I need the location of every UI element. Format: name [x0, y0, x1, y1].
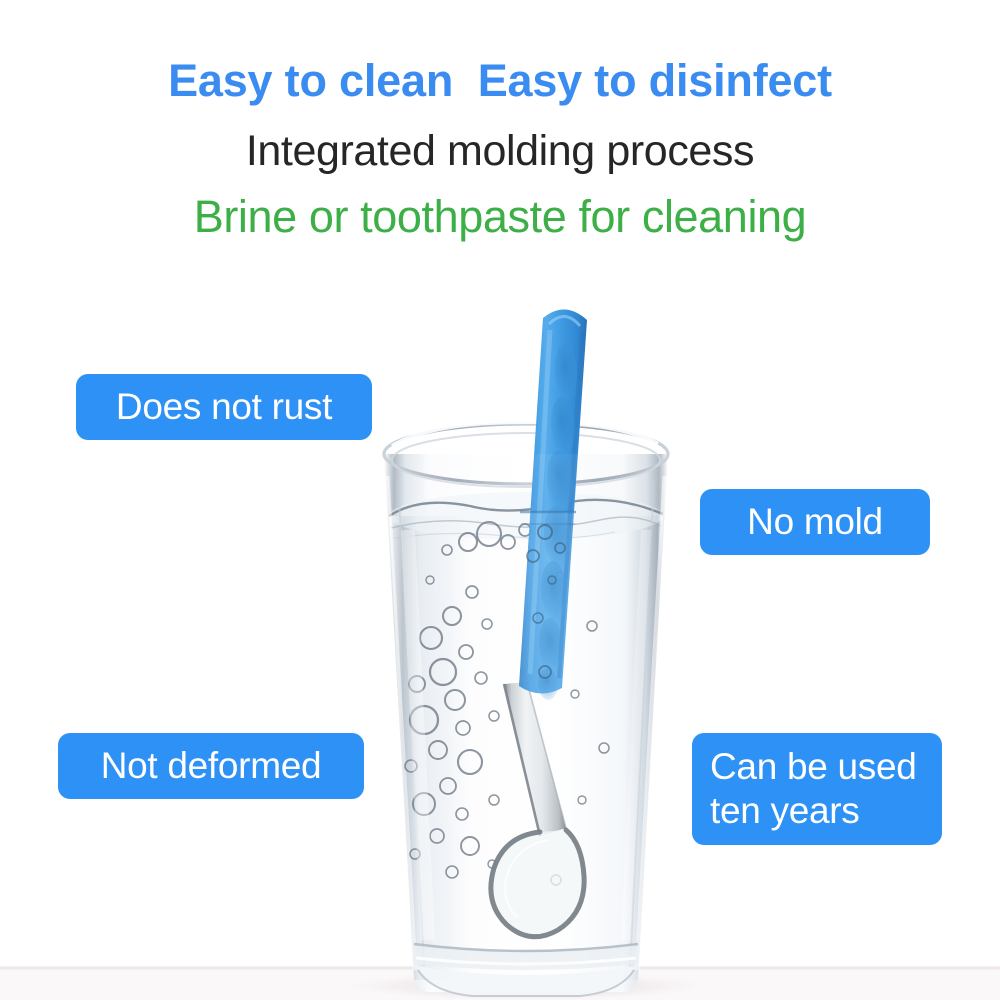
feature-badge-no-mold[interactable]: No mold: [700, 489, 930, 555]
headline-line-3: Brine or toothpaste for cleaning: [0, 194, 1000, 239]
headline-line-2: Integrated molding process: [0, 130, 1000, 173]
badge-label-line-1: Can be used: [710, 745, 917, 789]
badge-label: Not deformed: [101, 744, 322, 788]
badge-label-line-2: ten years: [710, 789, 917, 833]
feature-badge-not-deformed[interactable]: Not deformed: [58, 733, 364, 799]
badge-label: No mold: [747, 500, 883, 544]
product-feature-graphic: Easy to clean Easy to disinfect Integrat…: [0, 0, 1000, 1000]
headline-block: Easy to clean Easy to disinfect Integrat…: [0, 58, 1000, 239]
headline-line-1: Easy to clean Easy to disinfect: [0, 58, 1000, 103]
feature-badge-can-be-used-ten-years[interactable]: Can be used ten years: [692, 733, 942, 845]
feature-badge-does-not-rust[interactable]: Does not rust: [76, 374, 372, 440]
badge-label: Does not rust: [116, 385, 332, 429]
glass-front-reflection: [384, 454, 668, 992]
